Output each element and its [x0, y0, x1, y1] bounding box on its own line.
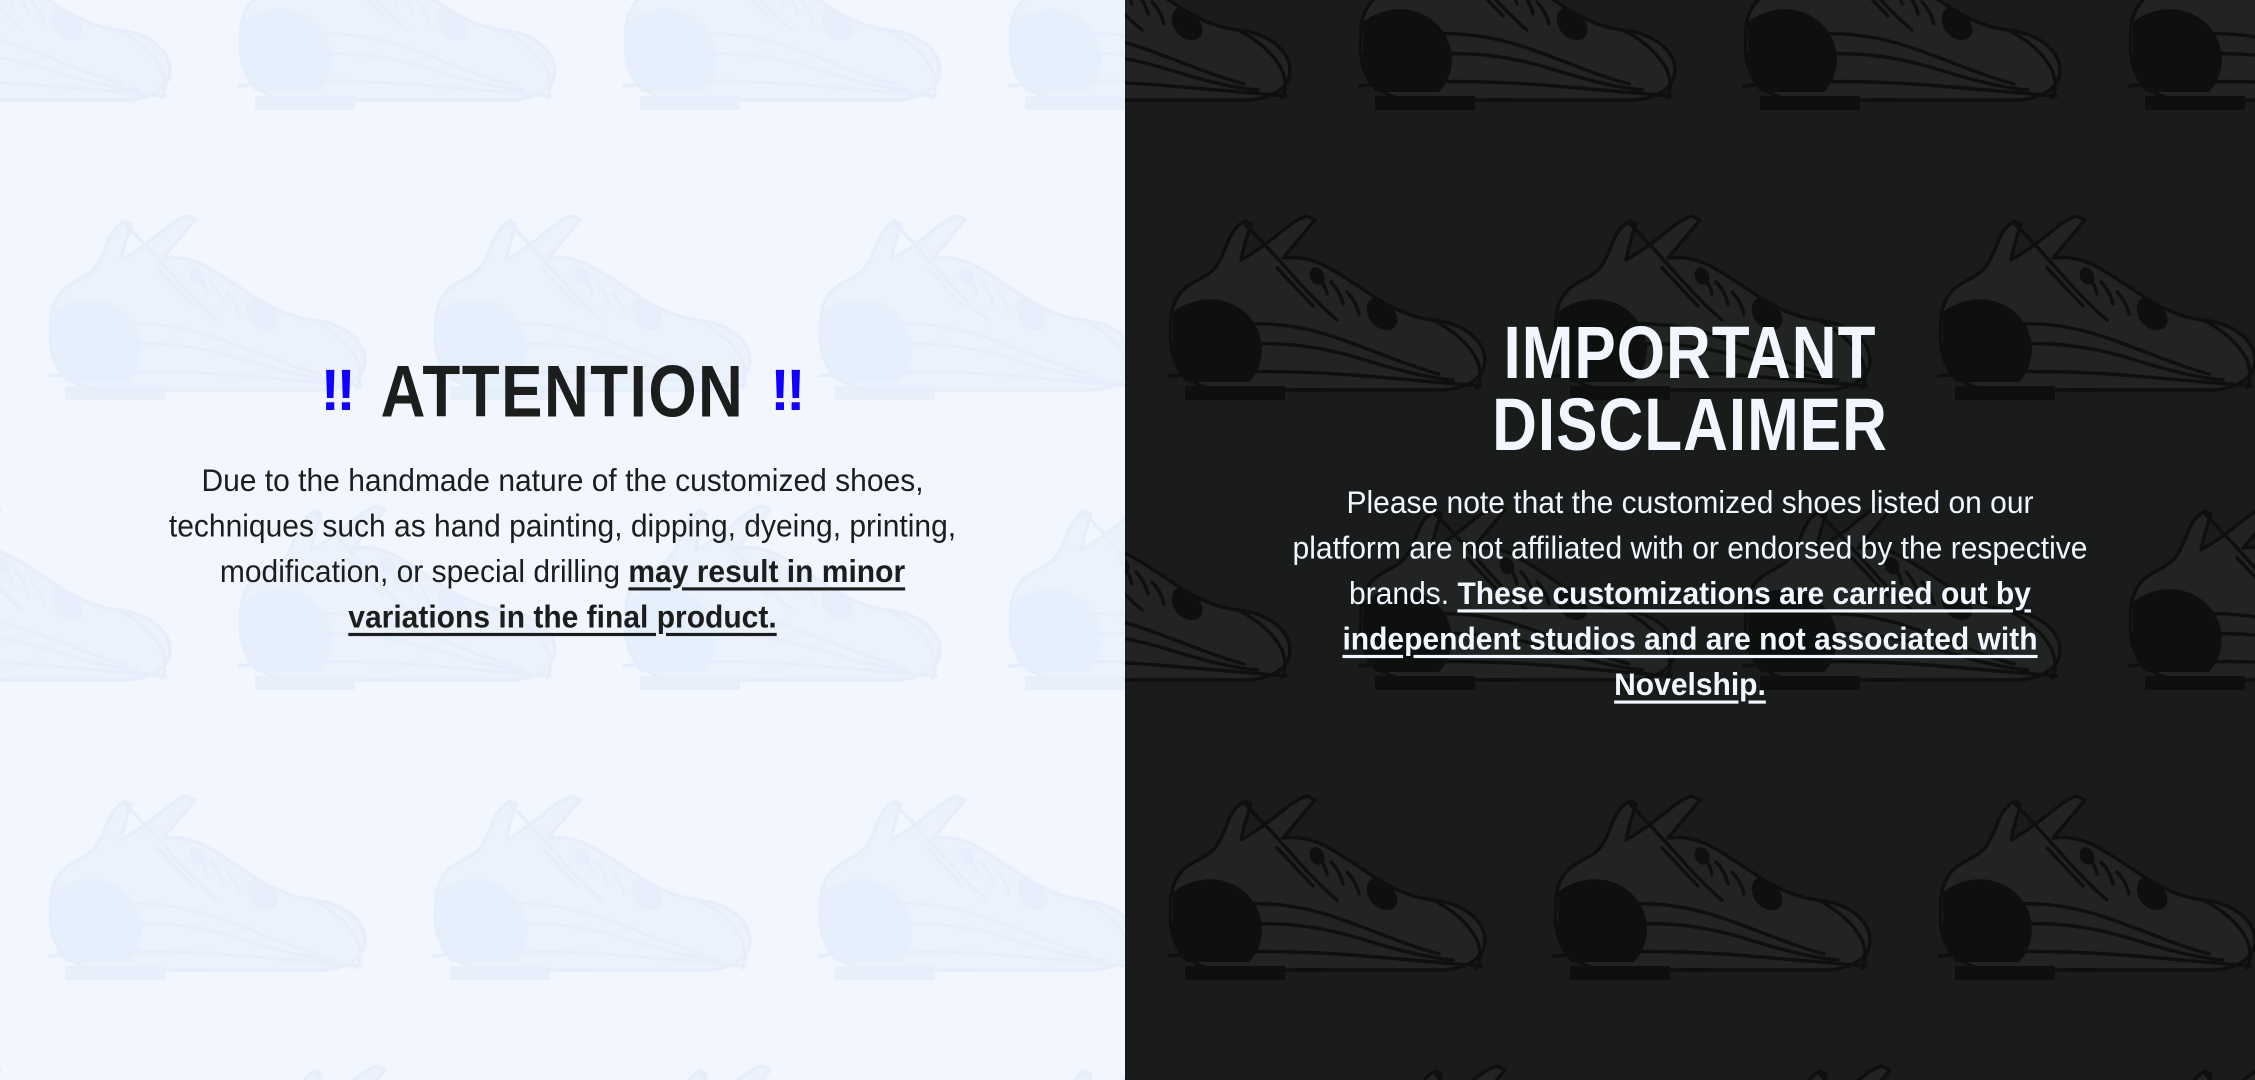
disclaimer-heading: IMPORTANT DISCLAIMER — [1492, 318, 1888, 462]
disclaimer-panel: IMPORTANT DISCLAIMER Please note that th… — [1125, 0, 2255, 1080]
attention-body: Due to the handmade nature of the custom… — [168, 458, 958, 640]
disclaimer-content: IMPORTANT DISCLAIMER Please note that th… — [1125, 0, 2255, 1080]
attention-heading: ‼ ATTENTION ‼ — [321, 362, 805, 424]
attention-content: ‼ ATTENTION ‼ Due to the handmade nature… — [0, 0, 1125, 1080]
attention-panel: ‼ ATTENTION ‼ Due to the handmade nature… — [0, 0, 1125, 1080]
disclaimer-heading-line-1: IMPORTANT — [1504, 312, 1877, 395]
double-exclamation-right-icon: ‼ — [770, 362, 804, 420]
disclaimer-heading-line-2: DISCLAIMER — [1492, 390, 1888, 462]
double-exclamation-left-icon: ‼ — [321, 362, 355, 420]
disclaimer-body: Please note that the customized shoes li… — [1290, 480, 2090, 708]
customization-notice-banner: ‼ ATTENTION ‼ Due to the handmade nature… — [0, 0, 2255, 1080]
attention-heading-text: ATTENTION — [381, 356, 745, 429]
